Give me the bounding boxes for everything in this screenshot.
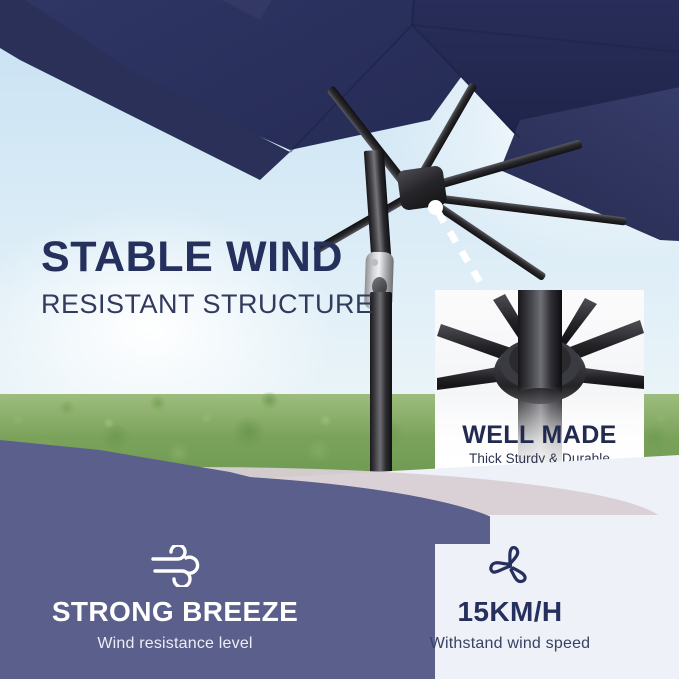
feature-strong-breeze: STRONG BREEZE Wind resistance level [35, 543, 315, 653]
feature-title: 15KM/H [370, 597, 650, 626]
wind-icon [35, 543, 315, 589]
propeller-icon [370, 543, 650, 589]
callout-marker-dot [428, 200, 443, 215]
headline-title: STABLE WIND [41, 236, 461, 280]
headline-block: STABLE WIND RESISTANT STRUCTURE [41, 236, 461, 320]
inset-detail-panel[interactable]: WELL MADE Thick Sturdy & Durable [435, 290, 644, 476]
feature-wind-speed: 15KM/H Withstand wind speed [370, 543, 650, 653]
feature-subtitle: Withstand wind speed [370, 635, 650, 653]
product-feature-graphic: WELL MADE Thick Sturdy & Durable STABLE … [0, 0, 679, 679]
feature-title: STRONG BREEZE [35, 597, 315, 626]
feature-subtitle: Wind resistance level [35, 635, 315, 653]
headline-subtitle: RESISTANT STRUCTURE [41, 289, 461, 320]
inset-title: WELL MADE [435, 422, 644, 448]
